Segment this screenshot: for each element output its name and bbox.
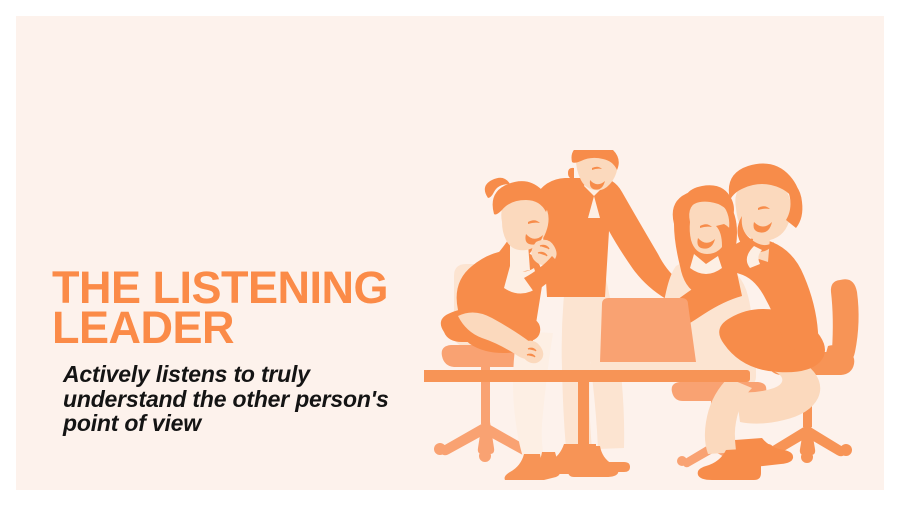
text-block: THE LISTENING LEADER Actively listens to… — [52, 268, 452, 436]
illustration-four-colleagues-table: .mid { fill:#F9A272; } .dark { fill:#F79… — [424, 150, 884, 480]
slide-root: .mid { fill:#F9A272; } .dark { fill:#F79… — [0, 0, 900, 506]
page-subtitle: Actively listens to truly understand the… — [52, 348, 452, 436]
page-title: THE LISTENING LEADER — [52, 268, 452, 348]
slide-canvas: .mid { fill:#F9A272; } .dark { fill:#F79… — [16, 16, 884, 490]
